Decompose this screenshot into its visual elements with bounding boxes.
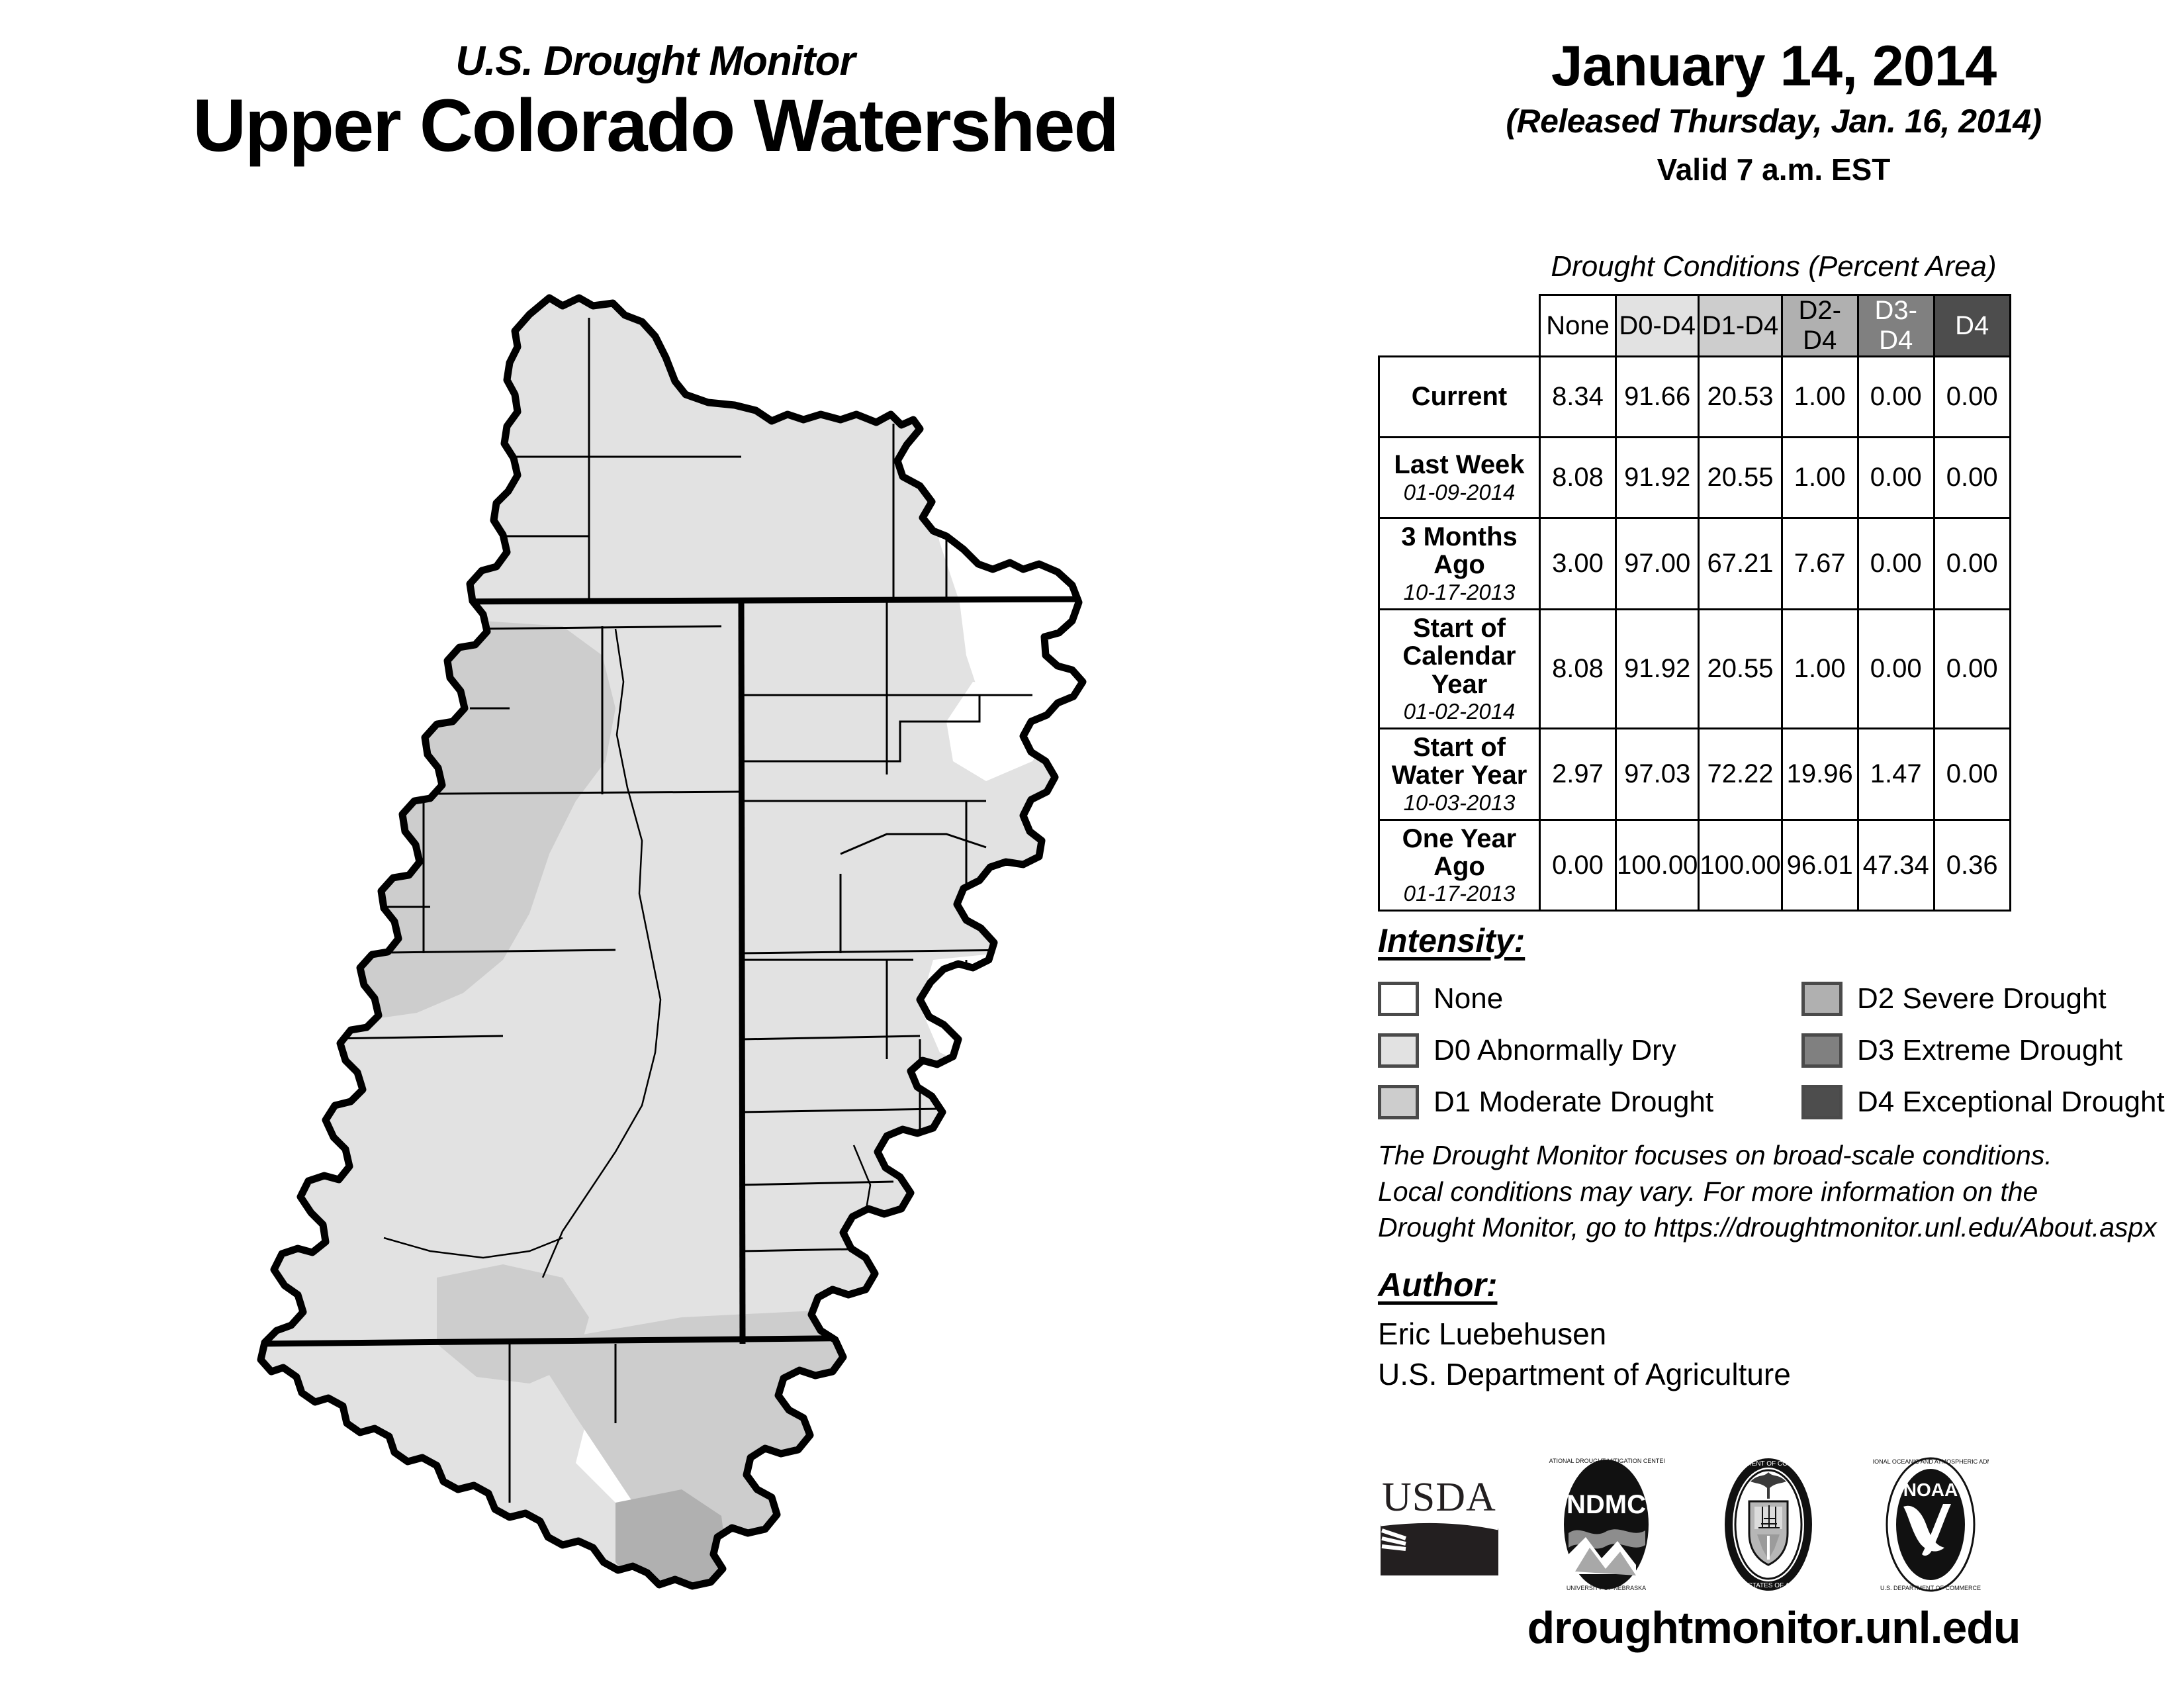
drought-conditions-table: None D0-D4 D1-D4 D2-D4 D3-D4 D4 Current … — [1378, 294, 2011, 912]
row-name: 3 Months Ago — [1383, 523, 1536, 579]
svg-text:U.S. DEPARTMENT OF COMMERCE: U.S. DEPARTMENT OF COMMERCE — [1880, 1585, 1981, 1591]
legend-swatch-d1 — [1378, 1085, 1419, 1119]
legend-label: D3 Extreme Drought — [1857, 1034, 2122, 1067]
svg-text:UNITED STATES OF AMERICA: UNITED STATES OF AMERICA — [1721, 1582, 1815, 1589]
release-date: January 14, 2014 — [1363, 36, 2184, 96]
cell-d1d4: 67.21 — [1699, 518, 1782, 610]
legend-swatch-d2 — [1801, 982, 1843, 1016]
cell-d0d4: 91.92 — [1616, 438, 1699, 518]
legend-item-d2: D2 Severe Drought — [1801, 982, 2172, 1016]
svg-text:DEPARTMENT OF COMMERCE: DEPARTMENT OF COMMERCE — [1720, 1460, 1817, 1468]
disclaimer-line-3: Drought Monitor, go to https://droughtmo… — [1378, 1209, 2157, 1246]
col-header-d4: D4 — [1934, 295, 2010, 357]
col-header-d3d4: D3-D4 — [1858, 295, 1934, 357]
svg-text:NOAA: NOAA — [1903, 1479, 1958, 1500]
cell-d3d4: 0.00 — [1858, 357, 1934, 438]
cell-d4: 0.00 — [1934, 438, 2010, 518]
cell-d4: 0.00 — [1934, 357, 2010, 438]
legend-swatch-d4 — [1801, 1085, 1843, 1119]
title-block: U.S. Drought Monitor Upper Colorado Wate… — [0, 40, 1310, 165]
table-header-row: None D0-D4 D1-D4 D2-D4 D3-D4 D4 — [1379, 295, 2011, 357]
drought-map[interactable] — [218, 258, 1145, 1635]
row-label-last-week: Last Week 01-09-2014 — [1379, 438, 1540, 518]
ndmc-logo: NDMC NATIONAL DROUGHT MITIGATION CENTER … — [1549, 1455, 1664, 1597]
row-name: Current — [1383, 383, 1536, 410]
cell-d0d4: 91.66 — [1616, 357, 1699, 438]
legend-swatch-none — [1378, 982, 1419, 1016]
footer-url[interactable]: droughtmonitor.unl.edu — [1363, 1602, 2184, 1654]
svg-text:NDMC: NDMC — [1567, 1490, 1646, 1519]
table-caption: Drought Conditions (Percent Area) — [1363, 250, 2184, 283]
col-header-none: None — [1540, 295, 1616, 357]
row-name: Start of Calendar Year — [1383, 614, 1536, 698]
left-panel: U.S. Drought Monitor Upper Colorado Wate… — [0, 0, 1357, 1688]
author-org: U.S. Department of Agriculture — [1378, 1354, 1791, 1395]
cell-d2d4: 7.67 — [1782, 518, 1858, 610]
page-title: Upper Colorado Watershed — [0, 87, 1310, 165]
right-panel: January 14, 2014 (Released Thursday, Jan… — [1363, 0, 2184, 1688]
row-name: Start of Water Year — [1383, 733, 1536, 790]
cell-d4: 0.00 — [1934, 609, 2010, 728]
legend-label: D4 Exceptional Drought — [1857, 1086, 2165, 1119]
table-body: Current 8.34 91.66 20.53 1.00 0.00 0.00 … — [1379, 357, 2011, 911]
legend-item-d0: D0 Abnormally Dry — [1378, 1033, 1801, 1068]
cell-none: 2.97 — [1540, 728, 1616, 820]
cell-d2d4: 1.00 — [1782, 609, 1858, 728]
cell-none: 0.00 — [1540, 820, 1616, 911]
table-row: Start of Calendar Year 01-02-2014 8.08 9… — [1379, 609, 2011, 728]
row-label-current: Current — [1379, 357, 1540, 438]
row-name: One Year Ago — [1383, 825, 1536, 881]
cell-d0d4: 97.00 — [1616, 518, 1699, 610]
cell-d4: 0.00 — [1934, 728, 2010, 820]
cell-d1d4: 20.53 — [1699, 357, 1782, 438]
cell-d1d4: 72.22 — [1699, 728, 1782, 820]
cell-d2d4: 96.01 — [1782, 820, 1858, 911]
row-label-one-year-ago: One Year Ago 01-17-2013 — [1379, 820, 1540, 911]
legend-item-d3: D3 Extreme Drought — [1801, 1033, 2172, 1068]
row-date: 10-03-2013 — [1383, 792, 1536, 815]
cell-d3d4: 0.00 — [1858, 518, 1934, 610]
author-name: Eric Luebehusen — [1378, 1314, 1791, 1354]
row-date: 10-17-2013 — [1383, 581, 1536, 604]
col-header-d2d4: D2-D4 — [1782, 295, 1858, 357]
legend-swatch-d3 — [1801, 1033, 1843, 1068]
row-label-3-months-ago: 3 Months Ago 10-17-2013 — [1379, 518, 1540, 610]
col-header-d0d4: D0-D4 — [1616, 295, 1699, 357]
row-date: 01-17-2013 — [1383, 882, 1536, 906]
cell-d3d4: 0.00 — [1858, 438, 1934, 518]
map-svg[interactable] — [218, 258, 1145, 1635]
legend-label: D1 Moderate Drought — [1433, 1086, 1713, 1119]
cell-d2d4: 19.96 — [1782, 728, 1858, 820]
cell-d1d4: 100.00 — [1699, 820, 1782, 911]
svg-text:UNIVERSITY OF NEBRASKA: UNIVERSITY OF NEBRASKA — [1567, 1585, 1646, 1591]
legend-item-d4: D4 Exceptional Drought — [1801, 1085, 2172, 1119]
noaa-logo: NOAA NATIONAL OCEANIC AND ATMOSPHERIC AD… — [1873, 1455, 1989, 1597]
legend-swatch-d0 — [1378, 1033, 1419, 1068]
cell-d0d4: 91.92 — [1616, 609, 1699, 728]
table-row: 3 Months Ago 10-17-2013 3.00 97.00 67.21… — [1379, 518, 2011, 610]
logo-row: USDA NDMC NATIONAL DROUGHT MITIGATION CE… — [1377, 1453, 2171, 1599]
row-date: 01-09-2014 — [1383, 481, 1536, 504]
legend-label: None — [1433, 982, 1503, 1015]
col-header-d1d4: D1-D4 — [1699, 295, 1782, 357]
intensity-legend: None D2 Severe Drought D0 Abnormally Dry… — [1378, 973, 2172, 1128]
released-date: (Released Thursday, Jan. 16, 2014) — [1363, 104, 2184, 139]
cell-d4: 0.00 — [1934, 518, 2010, 610]
svg-text:NATIONAL DROUGHT MITIGATION CE: NATIONAL DROUGHT MITIGATION CENTER — [1549, 1458, 1664, 1464]
doc-logo: DEPARTMENT OF COMMERCE UNITED STATES OF … — [1711, 1455, 1827, 1597]
table-corner-cell — [1379, 295, 1540, 357]
cell-d1d4: 20.55 — [1699, 609, 1782, 728]
program-subtitle: U.S. Drought Monitor — [0, 40, 1310, 83]
cell-d2d4: 1.00 — [1782, 357, 1858, 438]
table-head: None D0-D4 D1-D4 D2-D4 D3-D4 D4 — [1379, 295, 2011, 357]
cell-d1d4: 20.55 — [1699, 438, 1782, 518]
cell-none: 8.08 — [1540, 609, 1616, 728]
author-heading: Author: — [1378, 1266, 1498, 1304]
cell-d0d4: 97.03 — [1616, 728, 1699, 820]
row-name: Last Week — [1383, 451, 1536, 479]
cell-d4: 0.36 — [1934, 820, 2010, 911]
disclaimer-line-2: Local conditions may vary. For more info… — [1378, 1174, 2157, 1210]
cell-none: 8.08 — [1540, 438, 1616, 518]
disclaimer-line-1: The Drought Monitor focuses on broad-sca… — [1378, 1137, 2157, 1174]
usda-logo: USDA — [1377, 1470, 1502, 1582]
author-block: Eric Luebehusen U.S. Department of Agric… — [1378, 1314, 1791, 1395]
legend-item-none: None — [1378, 982, 1801, 1016]
cell-d3d4: 0.00 — [1858, 609, 1934, 728]
legend-item-d1: D1 Moderate Drought — [1378, 1085, 1801, 1119]
table-row: Start of Water Year 10-03-2013 2.97 97.0… — [1379, 728, 2011, 820]
table-row: One Year Ago 01-17-2013 0.00 100.00 100.… — [1379, 820, 2011, 911]
row-label-start-of-calendar-year: Start of Calendar Year 01-02-2014 — [1379, 609, 1540, 728]
svg-text:USDA: USDA — [1382, 1475, 1496, 1520]
cell-none: 8.34 — [1540, 357, 1616, 438]
cell-d0d4: 100.00 — [1616, 820, 1699, 911]
valid-time: Valid 7 a.m. EST — [1363, 154, 2184, 185]
cell-d2d4: 1.00 — [1782, 438, 1858, 518]
row-date: 01-02-2014 — [1383, 700, 1536, 724]
cell-d3d4: 1.47 — [1858, 728, 1934, 820]
cell-d3d4: 47.34 — [1858, 820, 1934, 911]
table-row: Last Week 01-09-2014 8.08 91.92 20.55 1.… — [1379, 438, 2011, 518]
legend-label: D2 Severe Drought — [1857, 982, 2107, 1015]
svg-text:NATIONAL OCEANIC AND ATMOSPHER: NATIONAL OCEANIC AND ATMOSPHERIC ADMIN. — [1873, 1458, 1989, 1465]
row-label-start-of-water-year: Start of Water Year 10-03-2013 — [1379, 728, 1540, 820]
intensity-heading: Intensity: — [1378, 921, 1525, 960]
legend-label: D0 Abnormally Dry — [1433, 1034, 1676, 1067]
disclaimer-text: The Drought Monitor focuses on broad-sca… — [1378, 1137, 2157, 1246]
cell-none: 3.00 — [1540, 518, 1616, 610]
table-row: Current 8.34 91.66 20.53 1.00 0.00 0.00 — [1379, 357, 2011, 438]
date-block: January 14, 2014 (Released Thursday, Jan… — [1363, 36, 2184, 185]
